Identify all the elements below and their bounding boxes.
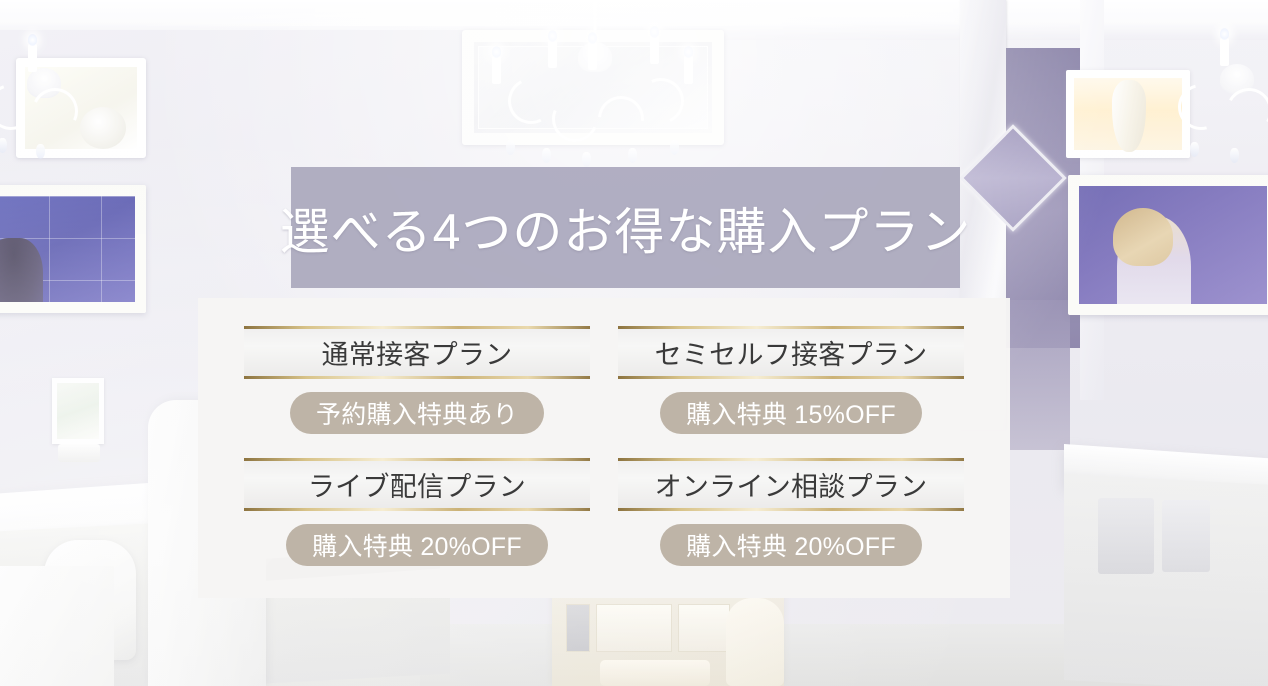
storage-bin	[1162, 500, 1210, 572]
chandelier-candle	[1220, 38, 1229, 66]
chandelier-crystal	[670, 140, 679, 155]
chandelier-flame	[684, 46, 693, 58]
plan-benefit-badge: 購入特典 15%OFF	[660, 392, 922, 434]
plan-header: ライブ配信プラン	[244, 458, 590, 511]
screen-person-left	[0, 238, 43, 313]
plan-benefit-badge: 購入特典 20%OFF	[660, 524, 922, 566]
hero-title-band: 選べる4つのお得な購入プラン	[291, 167, 960, 288]
table-mirror-stand	[58, 444, 100, 462]
plan-name: オンライン相談プラン	[655, 465, 928, 504]
bench-cushion	[600, 660, 710, 686]
chandelier-crystal	[582, 152, 591, 167]
chandelier-right	[1172, 22, 1268, 172]
screen-person-hair	[1113, 208, 1173, 266]
white-chair-center	[726, 598, 784, 686]
framed-screen-right	[1068, 175, 1268, 315]
plan-header: セミセルフ接客プラン	[618, 326, 964, 379]
chandelier-candle	[684, 56, 693, 84]
purple-accent-wall-lower	[1010, 300, 1070, 450]
chandelier-crystal	[36, 144, 45, 159]
chandelier-candle	[548, 40, 557, 68]
chandelier-crystal	[628, 148, 637, 163]
plan-card-semi-self[interactable]: セミセルフ接客プラン 購入特典 15%OFF	[618, 326, 964, 438]
chandelier-flame	[650, 26, 659, 38]
chandelier-flame	[588, 32, 597, 44]
chandelier-candle	[650, 36, 659, 64]
chandelier-flame	[492, 46, 501, 58]
chandelier-crystal	[1190, 142, 1199, 157]
chandelier-crystal	[1230, 148, 1239, 163]
page-title: 選べる4つのお得な購入プラン	[280, 192, 972, 264]
plan-name: 通常接客プラン	[322, 333, 513, 372]
plan-benefit-badge: 購入特典 20%OFF	[286, 524, 548, 566]
plan-header: オンライン相談プラン	[618, 458, 964, 511]
plan-header: 通常接客プラン	[244, 326, 590, 379]
framed-screen-left	[0, 185, 146, 313]
table-mirror	[52, 378, 104, 444]
chandelier-crystal	[506, 140, 515, 155]
chandelier-candle	[492, 56, 501, 84]
plan-card-normal[interactable]: 通常接客プラン 予約購入特典あり	[244, 326, 590, 438]
plans-panel: 通常接客プラン 予約購入特典あり セミセルフ接客プラン 購入特典 15%OFF …	[198, 298, 1010, 598]
plan-card-live-streaming[interactable]: ライブ配信プラン 購入特典 20%OFF	[244, 458, 590, 570]
chandelier-candle	[588, 42, 597, 70]
white-panel-bottom-left	[0, 566, 114, 686]
storage-bin	[1098, 498, 1154, 574]
plans-grid: 通常接客プラン 予約購入特典あり セミセルフ接客プラン 購入特典 15%OFF …	[244, 326, 964, 570]
promo-banner: 選べる4つのお得な購入プラン 通常接客プラン 予約購入特典あり セミセルフ接客プ…	[0, 0, 1268, 686]
plan-card-online-consultation[interactable]: オンライン相談プラン 購入特典 20%OFF	[618, 458, 964, 570]
chandelier-crystal	[542, 148, 551, 163]
chandelier-left	[0, 26, 114, 166]
plan-benefit-badge: 予約購入特典あり	[290, 392, 544, 434]
chandelier-flame	[1220, 28, 1229, 40]
chandelier-candle	[28, 44, 37, 72]
bench-cell	[566, 604, 590, 652]
plan-name: セミセルフ接客プラン	[655, 333, 928, 372]
chandelier-flame	[548, 30, 557, 42]
bench-cell	[596, 604, 672, 652]
plan-name: ライブ配信プラン	[308, 465, 526, 504]
chandelier-crystal	[0, 138, 7, 153]
bench-cell	[678, 604, 730, 652]
chandelier-center	[470, 0, 720, 175]
chandelier-flame	[28, 34, 37, 46]
